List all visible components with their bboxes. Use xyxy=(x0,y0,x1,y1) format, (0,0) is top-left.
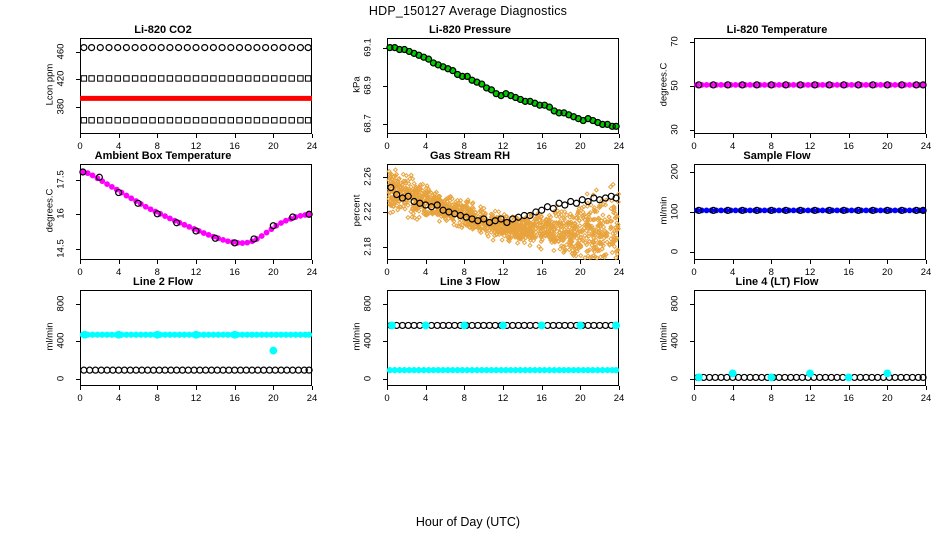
x-tick-mark-1-6 xyxy=(312,134,313,138)
chart-panel-5: Gas Stream RHpercent2.182.222.2604812162… xyxy=(325,150,615,265)
x-tick-9-2: 8 xyxy=(759,393,783,404)
x-tick-mark-4-6 xyxy=(312,260,313,264)
x-tick-7-6: 24 xyxy=(300,393,324,404)
data-layer-8 xyxy=(325,276,615,391)
x-tick-8-1: 4 xyxy=(414,393,438,404)
x-tick-8-2: 8 xyxy=(452,393,476,404)
x-tick-9-1: 4 xyxy=(721,393,745,404)
data-layer-5 xyxy=(325,150,615,265)
page-title: HDP_150127 Average Diagnostics xyxy=(0,4,936,18)
x-tick-8-3: 12 xyxy=(491,393,515,404)
x-tick-9-5: 20 xyxy=(875,393,899,404)
x-tick-7-2: 8 xyxy=(145,393,169,404)
chart-panel-3: Li-820 Temperaturedegrees.C3050700481216… xyxy=(632,24,922,139)
x-tick-7-5: 20 xyxy=(261,393,285,404)
data-layer-7 xyxy=(18,276,308,391)
x-tick-9-3: 12 xyxy=(798,393,822,404)
global-x-axis-label: Hour of Day (UTC) xyxy=(0,515,936,529)
x-tick-7-1: 4 xyxy=(107,393,131,404)
x-tick-mark-8-6 xyxy=(619,386,620,390)
data-layer-4 xyxy=(18,150,308,265)
x-tick-mark-5-6 xyxy=(619,260,620,264)
x-tick-8-0: 0 xyxy=(375,393,399,404)
x-tick-mark-2-6 xyxy=(619,134,620,138)
chart-panel-9: Line 4 (LT) Flowml/min040080004812162024 xyxy=(632,276,922,391)
x-tick-mark-3-6 xyxy=(926,134,927,138)
chart-panel-7: Line 2 Flowml/min040080004812162024 xyxy=(18,276,308,391)
data-layer-9 xyxy=(632,276,922,391)
x-tick-7-0: 0 xyxy=(68,393,92,404)
x-tick-8-6: 24 xyxy=(607,393,631,404)
chart-panel-4: Ambient Box Temperaturedegrees.C14.51617… xyxy=(18,150,308,265)
data-layer-3 xyxy=(632,24,922,139)
chart-panel-6: Sample Flowml/min010020004812162024 xyxy=(632,150,922,265)
x-tick-9-4: 16 xyxy=(837,393,861,404)
x-tick-mark-6-6 xyxy=(926,260,927,264)
x-tick-8-4: 16 xyxy=(530,393,554,404)
chart-panel-1: Li-820 CO2Lcon ppm38042046004812162024 xyxy=(18,24,308,139)
data-layer-2 xyxy=(325,24,615,139)
x-tick-8-5: 20 xyxy=(568,393,592,404)
x-tick-7-3: 12 xyxy=(184,393,208,404)
data-layer-1 xyxy=(18,24,308,139)
x-tick-mark-7-6 xyxy=(312,386,313,390)
x-tick-mark-9-6 xyxy=(926,386,927,390)
x-tick-9-6: 24 xyxy=(914,393,936,404)
x-tick-9-0: 0 xyxy=(682,393,706,404)
chart-panel-2: Li-820 PressurekPa68.768.969.10481216202… xyxy=(325,24,615,139)
chart-panel-8: Line 3 Flowml/min040080004812162024 xyxy=(325,276,615,391)
data-layer-6 xyxy=(632,150,922,265)
x-tick-7-4: 16 xyxy=(223,393,247,404)
